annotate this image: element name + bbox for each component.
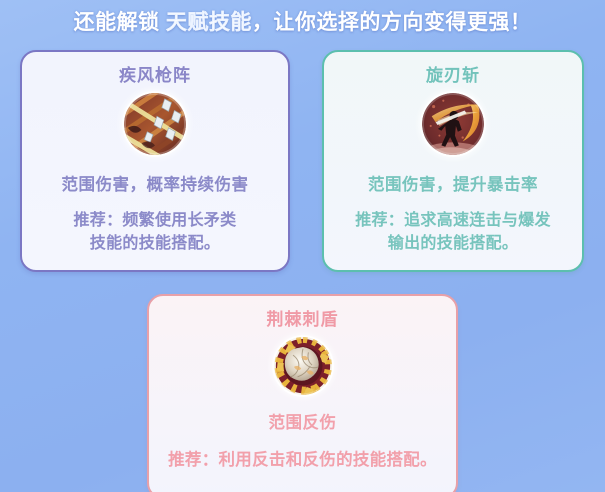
thorn-shield-icon — [274, 337, 332, 395]
skill-card-recommendation: 推荐：利用反击和反伤的技能搭配。 — [149, 449, 456, 473]
skill-card-description: 范围伤害，提升暴击率 — [324, 171, 582, 195]
skill-icon-wrapper — [149, 337, 456, 395]
spear-formation-icon — [124, 93, 186, 155]
skill-card-jingjicidun[interactable]: 荆棘刺盾 — [147, 294, 458, 492]
headline-suffix: ，让你选择的方向变得更强！ — [252, 11, 532, 34]
spinning-blade-icon — [422, 93, 484, 155]
recommendation-line-1: 推荐：利用反击和反伤的技能搭配。 — [168, 451, 437, 469]
skill-card-jifengqiangzhen[interactable]: 疾风枪阵 — [20, 50, 290, 272]
skill-card-xuanrenzhan[interactable]: 旋刃斩 — [322, 50, 584, 272]
recommendation-line-2: 输出的技能搭配。 — [388, 235, 518, 252]
skill-card-title: 疾风枪阵 — [22, 61, 288, 86]
skill-card-description: 范围反伤 — [149, 409, 456, 433]
skill-icon-wrapper — [324, 93, 582, 155]
headline-highlight: 天赋技能 — [166, 11, 252, 34]
recommendation-line-1: 推荐：频繁使用长矛类 — [73, 212, 236, 229]
recommendation-line-2: 技能的技能搭配。 — [90, 235, 220, 252]
headline-prefix: 还能解锁 — [74, 11, 166, 34]
page-title: 还能解锁 天赋技能，让你选择的方向变得更强！ — [0, 6, 605, 36]
skill-card-title: 荆棘刺盾 — [149, 305, 456, 330]
skill-card-description: 范围伤害，概率持续伤害 — [22, 171, 288, 195]
recommendation-line-1: 推荐：追求高速连击与爆发 — [355, 212, 551, 229]
skill-icon-wrapper — [22, 93, 288, 155]
skill-card-recommendation: 推荐：追求高速连击与爆发 输出的技能搭配。 — [324, 209, 582, 255]
promo-panel: 还能解锁 天赋技能，让你选择的方向变得更强！ 疾风枪阵 — [0, 0, 605, 492]
skill-card-title: 旋刃斩 — [324, 61, 582, 86]
skill-card-recommendation: 推荐：频繁使用长矛类 技能的技能搭配。 — [22, 209, 288, 255]
